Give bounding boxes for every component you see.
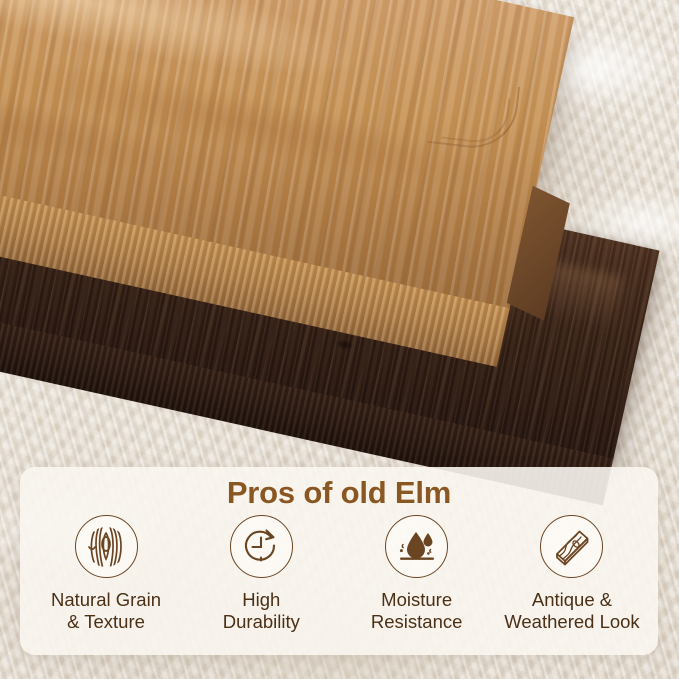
wood-plank-icon — [540, 515, 603, 578]
wood-grain-icon — [75, 515, 138, 578]
feature-antique-weathered: Antique & Weathered Look — [496, 515, 648, 633]
feature-list: Natural Grain & Texture High Durability — [20, 515, 658, 633]
feature-high-durability: High Durability — [185, 515, 337, 633]
clock-refresh-icon — [230, 515, 293, 578]
shelf-light — [0, 0, 574, 310]
panel-title: Pros of old Elm — [20, 475, 658, 511]
feature-natural-grain: Natural Grain & Texture — [30, 515, 182, 633]
feature-label: Antique & Weathered Look — [504, 589, 639, 633]
feature-label: High Durability — [223, 589, 300, 633]
pros-panel: Pros of old Elm — [20, 467, 658, 655]
feature-label: Natural Grain & Texture — [51, 589, 161, 633]
feature-label: Moisture Resistance — [371, 589, 463, 633]
shelf-dark-knot — [335, 338, 355, 352]
product-feature-image: Pros of old Elm — [0, 0, 679, 679]
water-droplet-icon — [385, 515, 448, 578]
feature-moisture-resistance: Moisture Resistance — [341, 515, 493, 633]
